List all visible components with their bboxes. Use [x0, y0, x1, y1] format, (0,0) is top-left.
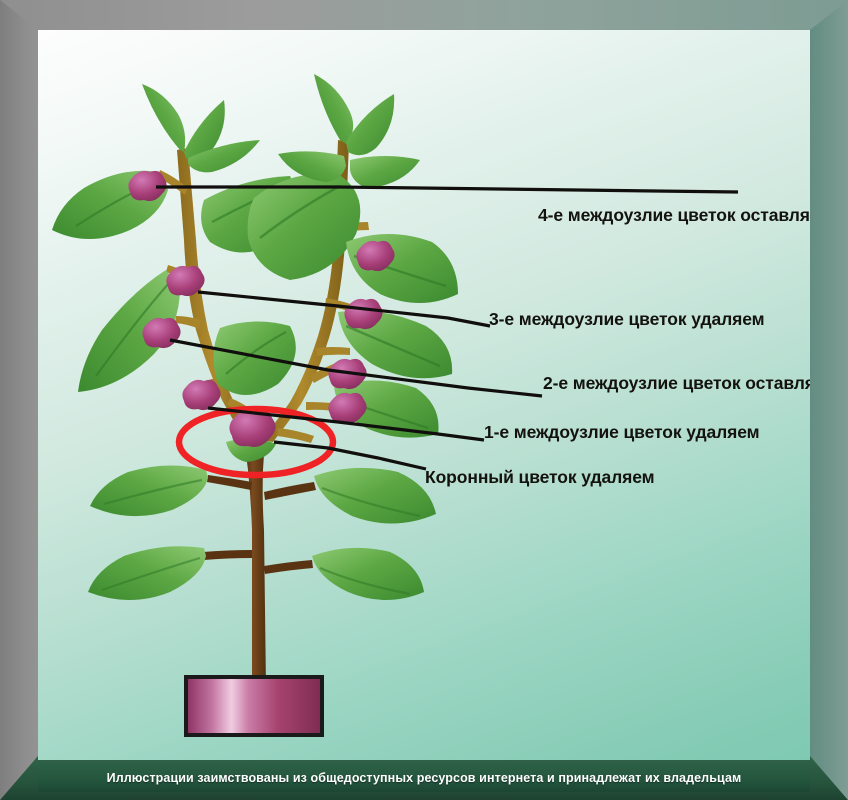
- leaf-top-right-a: [314, 74, 353, 144]
- leaf-lower-right-2: [312, 548, 424, 600]
- branch-r6: [277, 428, 314, 443]
- annotation-internode-3: 3-е междоузлие цветок удаляем: [489, 309, 764, 330]
- annotation-internode-1: 1-е междоузлие цветок удаляем: [484, 422, 759, 443]
- caption-band: Иллюстрации заимствованы из общедоступны…: [38, 764, 810, 792]
- branch-r3: [316, 347, 350, 356]
- caption-text: Иллюстрации заимствованы из общедоступны…: [107, 771, 742, 785]
- leaf-top-right-d: [350, 156, 420, 188]
- pot-body: [188, 679, 320, 733]
- leaf-top-left-a: [142, 84, 185, 152]
- branch-low-l2: [203, 550, 252, 560]
- flower-bud-left-c: [182, 380, 220, 410]
- leaf-top-right-b: [346, 94, 394, 155]
- branch-low-r1: [264, 482, 316, 500]
- annotation-crown-flower: Коронный цветок удаляем: [425, 467, 655, 488]
- framed-illustration: 4-е междоузлие цветок оставляем 3-е межд…: [0, 0, 848, 800]
- plant-diagram-svg: [38, 30, 810, 760]
- branch-low-r2: [264, 560, 313, 574]
- leader-line-crown-flower: [274, 442, 426, 469]
- frame-bevel-right: [804, 0, 848, 800]
- illustration-canvas: 4-е междоузлие цветок оставляем 3-е межд…: [38, 30, 810, 760]
- annotation-internode-2: 2-е междоузлие цветок оставляем: [543, 373, 810, 394]
- frame-bevel-left: [0, 0, 40, 800]
- leaf-lower-left-1: [90, 465, 208, 516]
- frame-bevel-top: [0, 0, 848, 30]
- annotation-internode-4: 4-е междоузлие цветок оставляем: [538, 205, 810, 226]
- flower-pot: [184, 675, 324, 737]
- leaf-lower-left-2: [88, 546, 206, 600]
